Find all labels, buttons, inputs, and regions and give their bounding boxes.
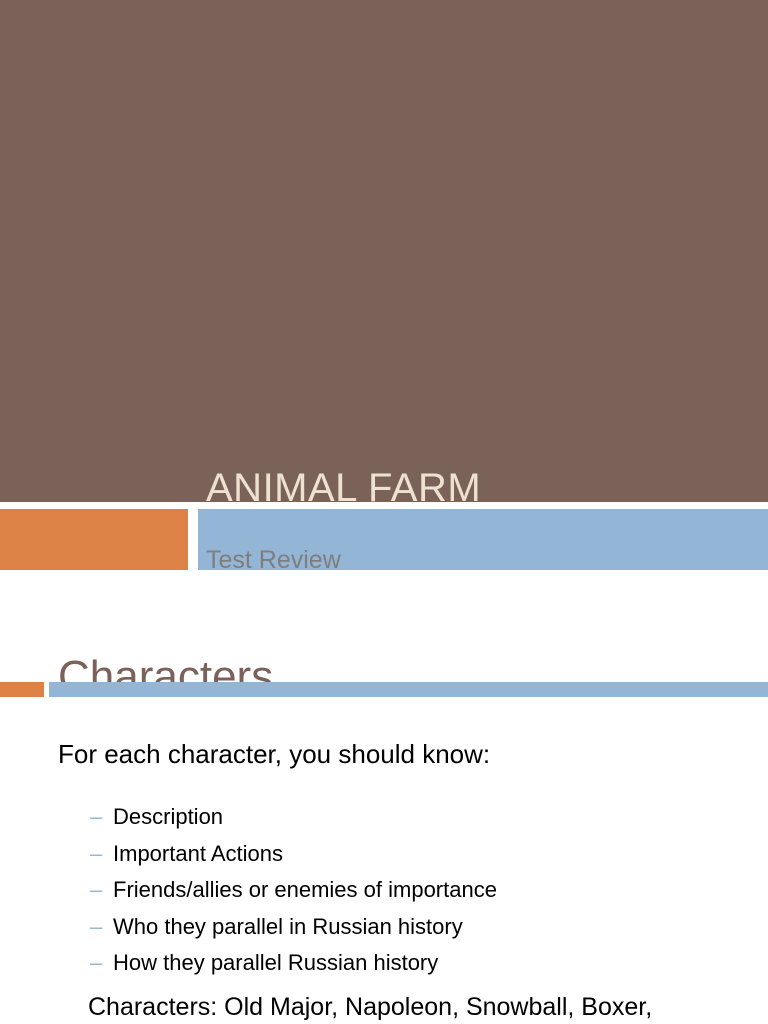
title-accent-bar-orange [0, 509, 188, 570]
dash-bullet-icon: – [90, 872, 102, 909]
slide-deck: ANIMAL FARM Test Review Characters For e… [0, 0, 768, 1024]
divider-rule-blue [49, 682, 768, 697]
presentation-title: ANIMAL FARM [206, 463, 746, 513]
list-item: – Important Actions [58, 836, 758, 873]
list-item-label: Who they parallel in Russian history [113, 914, 463, 939]
dash-bullet-icon: – [90, 836, 102, 873]
list-item: – Friends/allies or enemies of importanc… [58, 872, 758, 909]
list-item: – Who they parallel in Russian history [58, 909, 758, 946]
presentation-subtitle: Test Review [206, 543, 341, 576]
title-slide: ANIMAL FARM Test Review [0, 0, 768, 576]
requirements-list: – Description – Important Actions – Frie… [58, 799, 758, 982]
dash-bullet-icon: – [90, 799, 102, 836]
list-item-label: Important Actions [113, 841, 283, 866]
list-item-label: Description [113, 804, 223, 829]
divider-rule-orange [0, 682, 44, 697]
characters-slide: Characters For each character, you shoul… [0, 576, 768, 1024]
character-roster: Characters: Old Major, Napoleon, Snowbal… [88, 966, 748, 1024]
slide-body: For each character, you should know: – D… [58, 710, 758, 982]
list-item: – Description [58, 799, 758, 836]
title-hero-panel [0, 0, 768, 502]
list-item-label: Friends/allies or enemies of importance [113, 877, 497, 902]
dash-bullet-icon: – [90, 909, 102, 946]
character-roster-line-1: Characters: Old Major, Napoleon, Snowbal… [88, 991, 748, 1023]
body-lead-text: For each character, you should know: [58, 736, 758, 773]
